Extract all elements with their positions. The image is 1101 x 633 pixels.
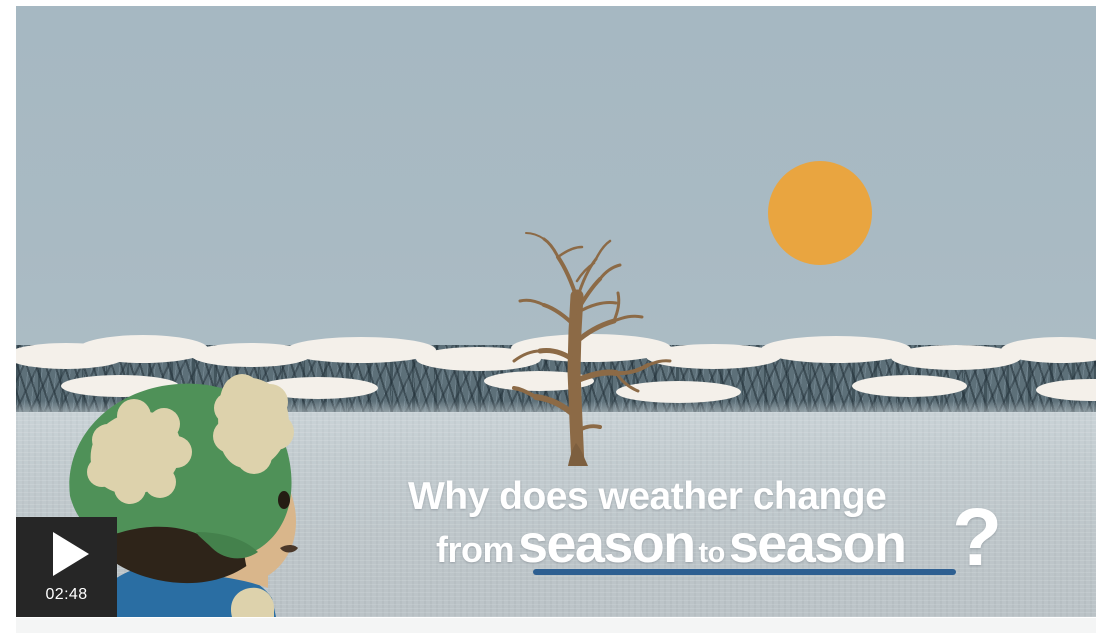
snow-cap	[761, 336, 911, 363]
page-root: Why does weather change from season to s…	[0, 0, 1101, 633]
video-duration-label: 02:48	[45, 586, 87, 604]
title-question-mark: ?	[952, 497, 1002, 579]
play-icon[interactable]	[53, 532, 89, 576]
sun-icon	[768, 161, 872, 265]
snow-cap	[852, 375, 967, 397]
video-title-overlay: Why does weather change from season to s…	[392, 471, 1032, 581]
title-word-from: from	[436, 529, 514, 571]
video-thumbnail-card[interactable]: Why does weather change from season to s…	[16, 6, 1096, 617]
page-footer-strip	[16, 618, 1096, 633]
title-word-season-2: season	[729, 513, 906, 575]
bare-tree	[496, 221, 686, 466]
title-underline	[533, 569, 956, 575]
title-word-to: to	[699, 537, 725, 570]
title-word-season-1: season	[518, 513, 695, 575]
play-button-overlay[interactable]: 02:48	[16, 517, 117, 617]
title-line-2: from season to season	[436, 513, 909, 575]
